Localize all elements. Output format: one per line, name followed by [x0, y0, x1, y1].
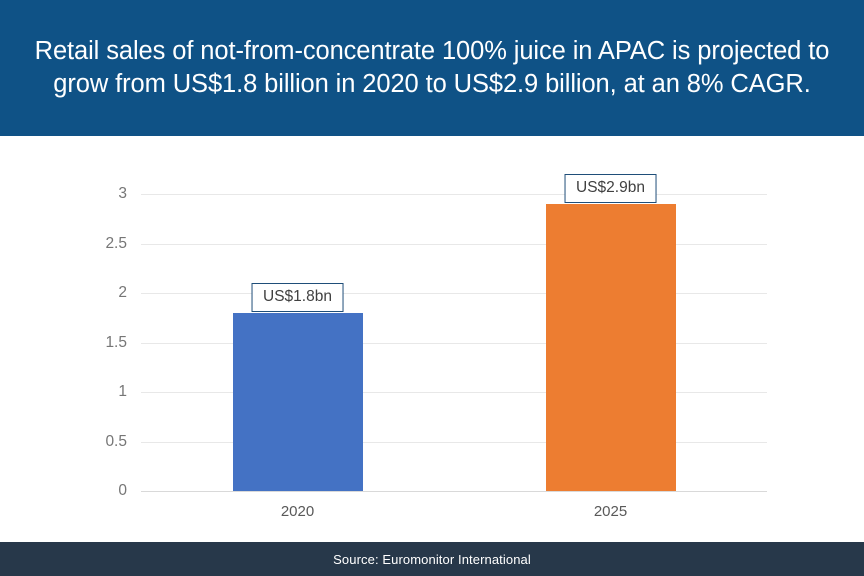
y-axis-tick-label: 2 [118, 284, 127, 302]
slide-canvas: Retail sales of not-from-concentrate 100… [0, 0, 864, 576]
plot-area: 00.511.522.532020US$1.8bn2025US$2.9bn [141, 194, 767, 491]
x-axis-tick-label-2020: 2020 [281, 503, 314, 520]
data-label-2020: US$1.8bn [251, 283, 344, 312]
x-axis-tick-label-2025: 2025 [594, 503, 627, 520]
footer-banner: Source: Euromonitor International [0, 542, 864, 576]
axis-baseline [141, 491, 767, 492]
bar-chart: 00.511.522.532020US$1.8bn2025US$2.9bn [0, 136, 864, 542]
source-attribution: Source: Euromonitor International [333, 552, 531, 567]
gridline [141, 194, 767, 195]
y-axis-tick-label: 3 [118, 185, 127, 203]
bar-2025[interactable] [546, 204, 676, 491]
bar-2020[interactable] [233, 313, 363, 491]
y-axis-tick-label: 2.5 [105, 235, 127, 253]
y-axis-tick-label: 0.5 [105, 433, 127, 451]
header-banner: Retail sales of not-from-concentrate 100… [0, 0, 864, 136]
y-axis-tick-label: 1.5 [105, 334, 127, 352]
y-axis-tick-label: 1 [118, 383, 127, 401]
page-title: Retail sales of not-from-concentrate 100… [22, 35, 842, 101]
data-label-2025: US$2.9bn [564, 174, 657, 203]
y-axis-tick-label: 0 [118, 482, 127, 500]
